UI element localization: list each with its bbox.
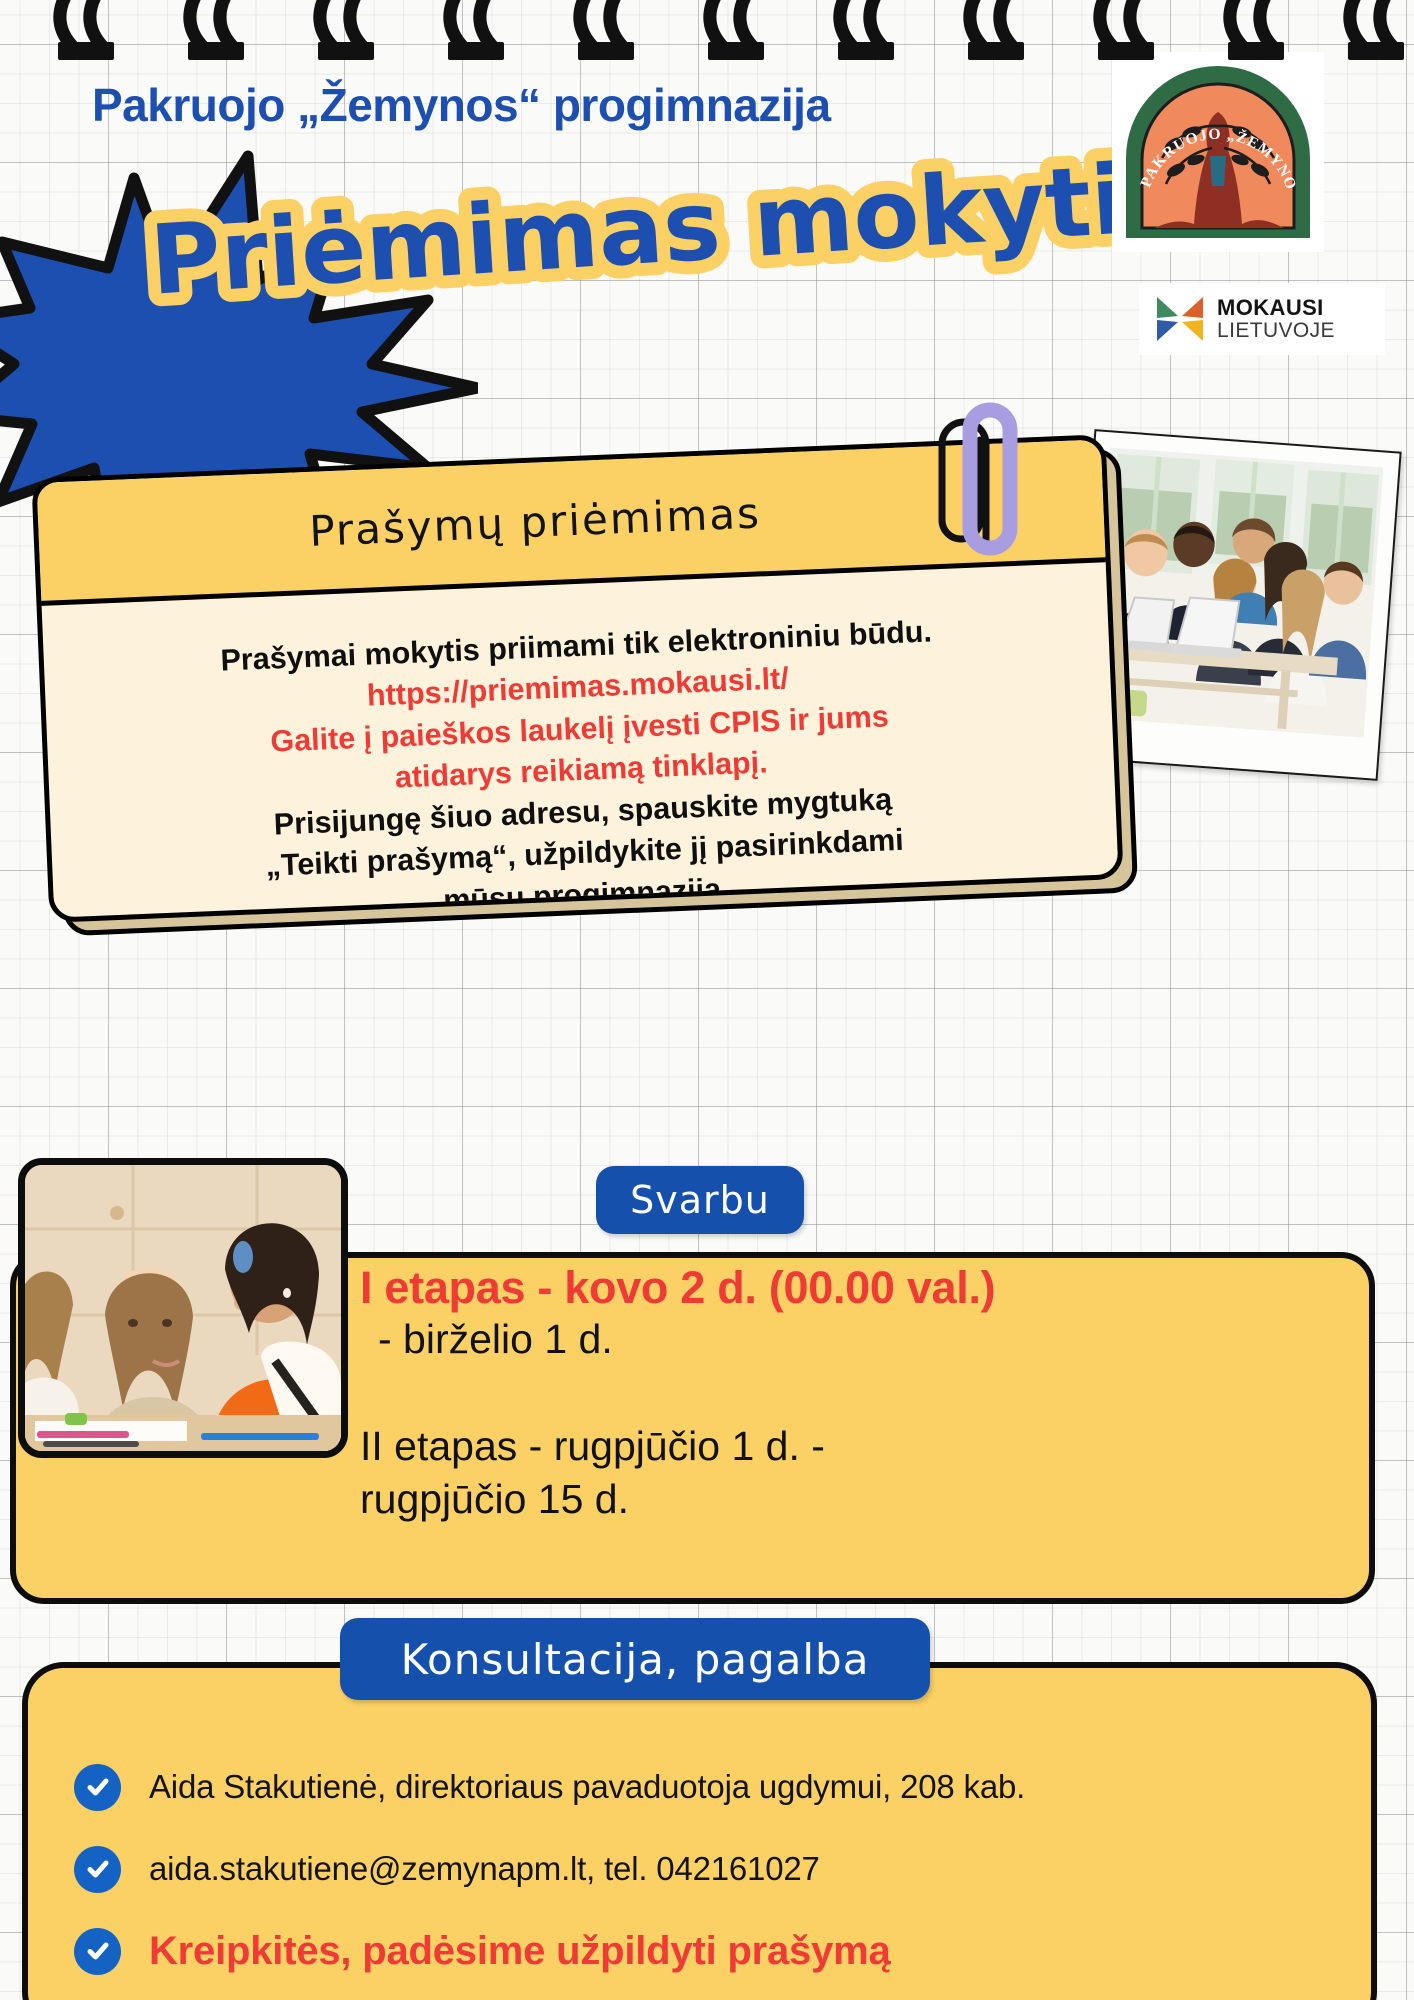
list-item: Kreipkitės, padėsime užpildyti prašymą xyxy=(28,1910,1371,1992)
school-emblem-logo: PAKRUOJO „ŽEMYNOS“ PROGIMNAZIJA xyxy=(1112,52,1324,252)
contact-name-role: Aida Stakutienė, direktoriaus pavaduotoj… xyxy=(149,1768,1025,1806)
check-circle-icon xyxy=(74,1764,121,1811)
check-circle-icon xyxy=(74,1928,121,1975)
poster-root: Pakruojo „Žemynos“ progimnazija xyxy=(0,0,1414,2000)
contact-call-to-action: Kreipkitės, padėsime užpildyti prašymą xyxy=(149,1929,891,1974)
status-badge-konsultacija: Konsultacija, pagalba xyxy=(340,1618,930,1700)
check-circle-icon xyxy=(74,1846,121,1893)
mokausi-line1: MOKAUSI xyxy=(1217,297,1335,320)
stage2-line1: II etapas - rugpjūčio 1 d. - xyxy=(360,1419,1320,1473)
contacts-card: Aida Stakutienė, direktoriaus pavaduotoj… xyxy=(22,1662,1377,2000)
list-item: aida.stakutiene@zemynapm.lt, tel. 042161… xyxy=(28,1828,1371,1910)
status-badge-svarbu: Svarbu xyxy=(596,1166,804,1234)
card-body-text: Prašymai mokytis priimami tik elektronin… xyxy=(42,562,1120,923)
page-title: Pakruojo „Žemynos“ progimnazija xyxy=(92,78,831,132)
list-item: Aida Stakutienė, direktoriaus pavaduotoj… xyxy=(28,1746,1371,1828)
mokausi-butterfly-icon xyxy=(1153,294,1207,344)
important-dates-text: I etapas - kovo 2 d. (00.00 val.) - birž… xyxy=(360,1262,1320,1526)
stage2-line2: rugpjūčio 15 d. xyxy=(360,1473,1320,1526)
paperclip-icon xyxy=(908,400,1018,560)
spiral-binding-icon xyxy=(0,0,1414,66)
contact-email-phone[interactable]: aida.stakutiene@zemynapm.lt, tel. 042161… xyxy=(149,1850,820,1888)
badge-svarbu-label: Svarbu xyxy=(630,1178,770,1222)
badge-konsultacija-label: Konsultacija, pagalba xyxy=(401,1635,870,1684)
stage1-red-line: I etapas - kovo 2 d. (00.00 val.) xyxy=(360,1262,1320,1313)
card-header-title: Prašymų priėmimas xyxy=(308,488,761,555)
stage1-continuation: - birželio 1 d. xyxy=(360,1313,1320,1366)
photo-students-writing xyxy=(18,1158,348,1458)
mokausi-line2: LIETUVOJE xyxy=(1217,320,1335,342)
mokausi-lietuvoje-logo: MOKAUSI LIETUVOJE xyxy=(1139,283,1385,355)
